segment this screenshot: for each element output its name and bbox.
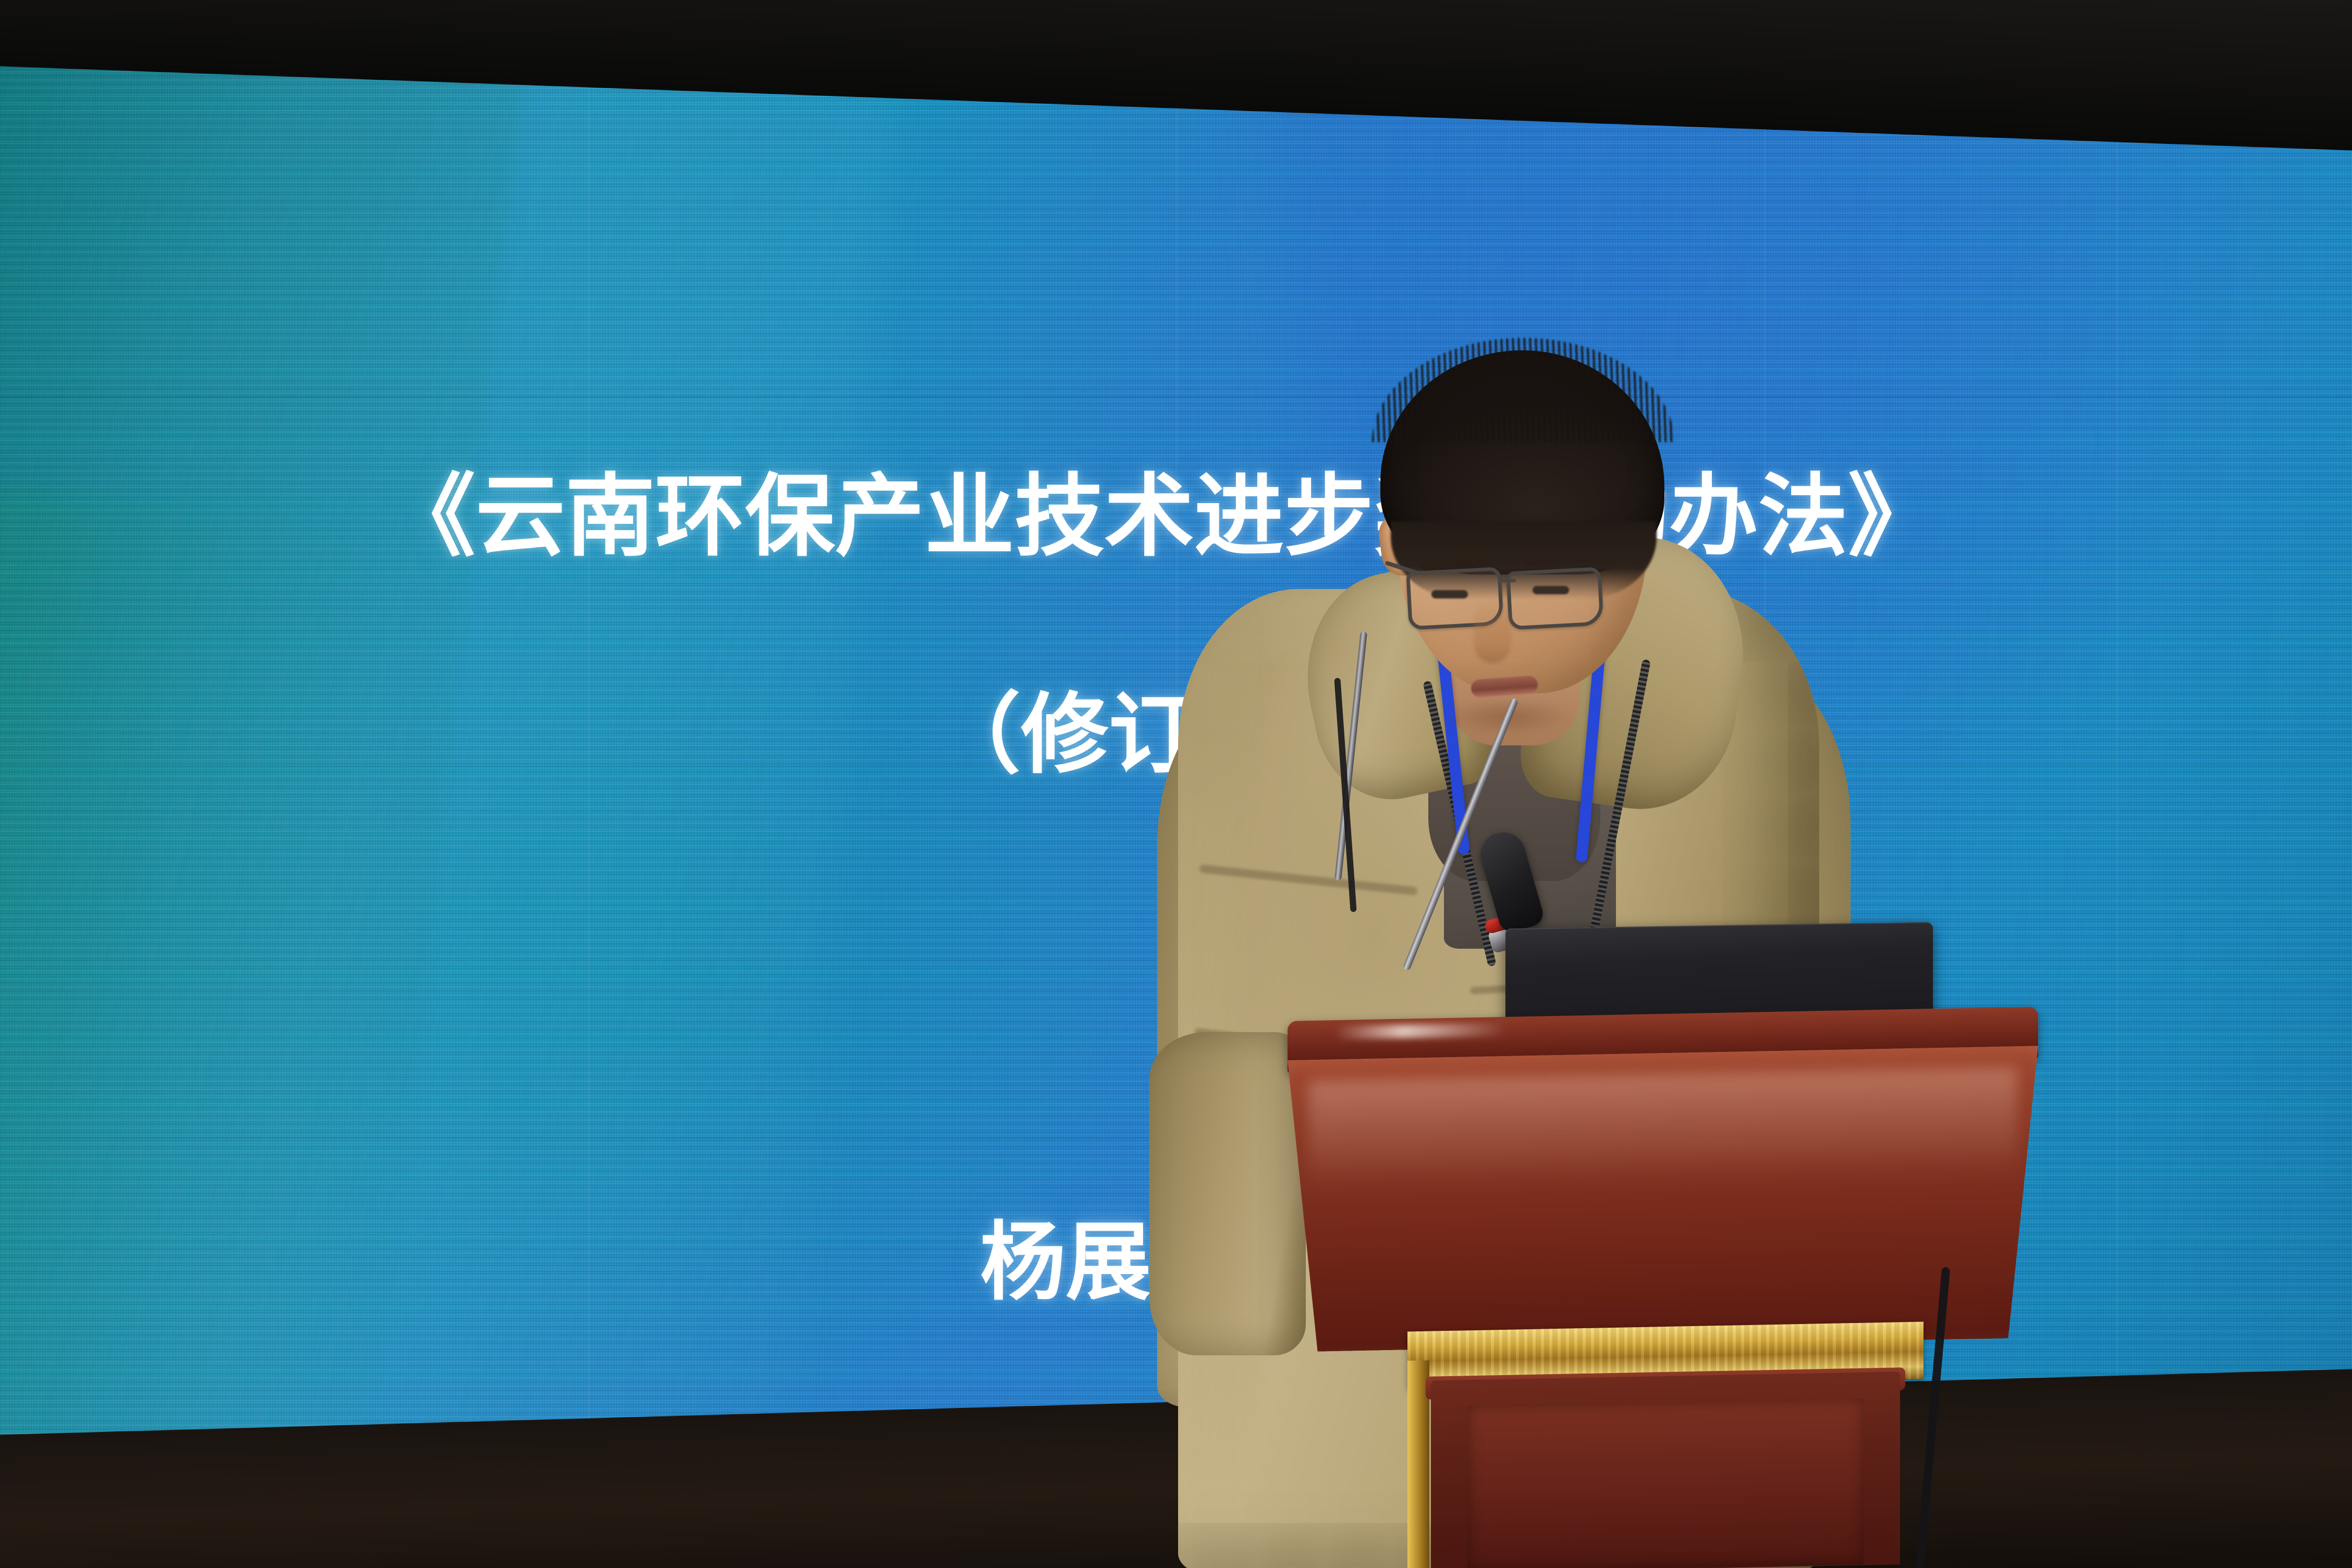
- speaker-left-arm: [1149, 1032, 1306, 1355]
- podium-gloss-reflection: [1308, 1067, 2017, 1190]
- podium-base-panel: [1467, 1399, 1864, 1568]
- speaker-nose: [1474, 601, 1511, 663]
- glasses-bridge: [1500, 579, 1516, 582]
- glasses-lens-right: [1506, 567, 1604, 630]
- photo-scene: 《云南环保产业技术进步奖 活动办法》 （修订稿） 杨展雄: [0, 0, 2352, 1568]
